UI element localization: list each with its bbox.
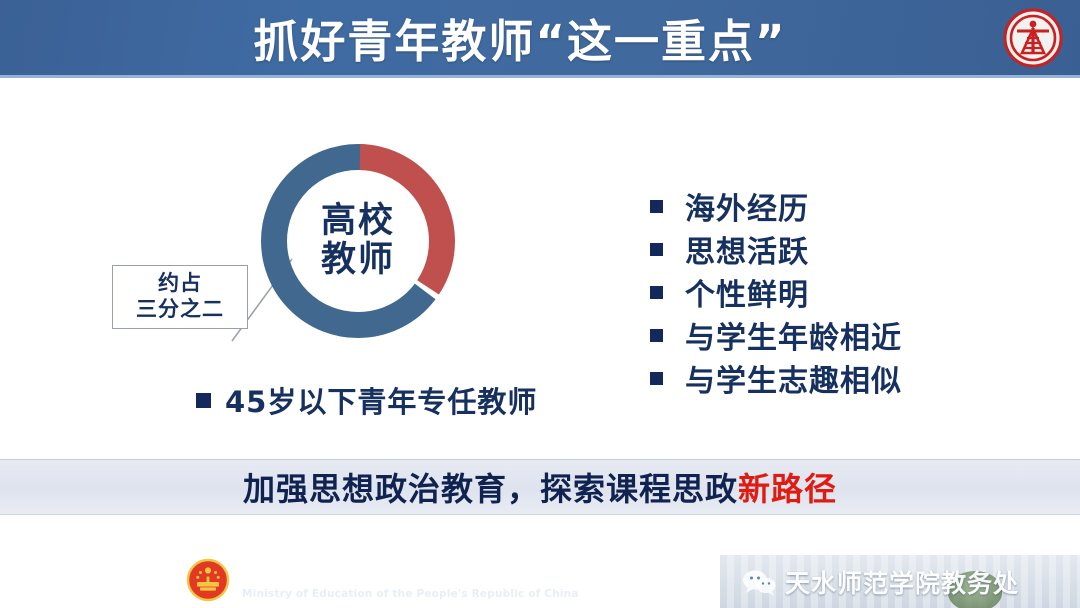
- slogan-highlight: 新路径: [738, 470, 837, 508]
- list-item: 与学生年龄相近: [650, 315, 1030, 355]
- callout-line1: 约占: [158, 271, 202, 297]
- slide-root: 抓好青年教师“这一重点”: [0, 0, 1080, 608]
- list-item-label: 海外经历: [685, 184, 809, 228]
- list-item: 海外经历: [650, 186, 1030, 226]
- list-item-label: 个性鲜明: [685, 270, 809, 314]
- donut-chart: 高校 教师: [253, 136, 463, 346]
- donut-center-line1: 高校: [321, 202, 395, 241]
- slogan-main: 加强思想政治教育，探索课程思政: [243, 470, 738, 508]
- donut-center-label: 高校 教师: [253, 136, 463, 346]
- callout-line2: 三分之二: [136, 297, 224, 323]
- square-bullet-icon: [650, 286, 663, 299]
- donut-center-line2: 教师: [321, 241, 395, 280]
- donut-caption-label: 45岁以下青年专任教师: [225, 379, 537, 421]
- slide-body: 高校 教师 约占 三分之二 45岁以下青年专任教师 海外经历 思想活跃: [0, 78, 1080, 460]
- wechat-icon: [742, 568, 776, 596]
- institution-logo-icon: [1002, 7, 1064, 69]
- square-bullet-icon: [650, 243, 663, 256]
- list-item: 思想活跃: [650, 229, 1030, 269]
- ministry-name-en: Ministry of Education of the People's Re…: [242, 588, 579, 601]
- watermark-text: 天水师范学院教务处: [785, 564, 1019, 600]
- wechat-watermark: 天水师范学院教务处: [720, 555, 1080, 608]
- china-national-emblem-icon: [186, 558, 230, 602]
- donut-caption: 45岁以下青年专任教师: [196, 379, 537, 421]
- square-bullet-icon: [650, 200, 663, 213]
- watermark-label: 天水师范学院教务处: [720, 555, 1080, 608]
- slide-footer: 中华人民共和国教育部 Ministry of Education of the …: [0, 555, 1080, 608]
- slogan-banner: 加强思想政治教育，探索课程思政新路径: [0, 459, 1080, 515]
- square-bullet-icon: [650, 372, 663, 385]
- square-bullet-icon: [650, 329, 663, 342]
- white-gap: [0, 515, 1080, 555]
- callout-box: 约占 三分之二: [112, 265, 248, 329]
- ministry-brand: 中华人民共和国教育部 Ministry of Education of the …: [186, 558, 579, 602]
- feature-bullet-list: 海外经历 思想活跃 个性鲜明 与学生年龄相近 与学生志趣相似: [650, 186, 1030, 401]
- slogan-text: 加强思想政治教育，探索课程思政新路径: [243, 464, 837, 510]
- ministry-name-cn: 中华人民共和国教育部: [242, 560, 579, 588]
- list-item-label: 与学生年龄相近: [685, 313, 902, 357]
- list-item-label: 思想活跃: [685, 227, 809, 271]
- page-title: 抓好青年教师“这一重点”: [0, 0, 1080, 75]
- list-item-label: 与学生志趣相似: [685, 356, 902, 400]
- square-bullet-icon: [196, 393, 211, 408]
- footer-inner: 中华人民共和国教育部 Ministry of Education of the …: [0, 555, 1080, 608]
- ministry-text: 中华人民共和国教育部 Ministry of Education of the …: [242, 560, 579, 601]
- slide-header: 抓好青年教师“这一重点”: [0, 0, 1080, 78]
- list-item: 个性鲜明: [650, 272, 1030, 312]
- list-item: 与学生志趣相似: [650, 358, 1030, 398]
